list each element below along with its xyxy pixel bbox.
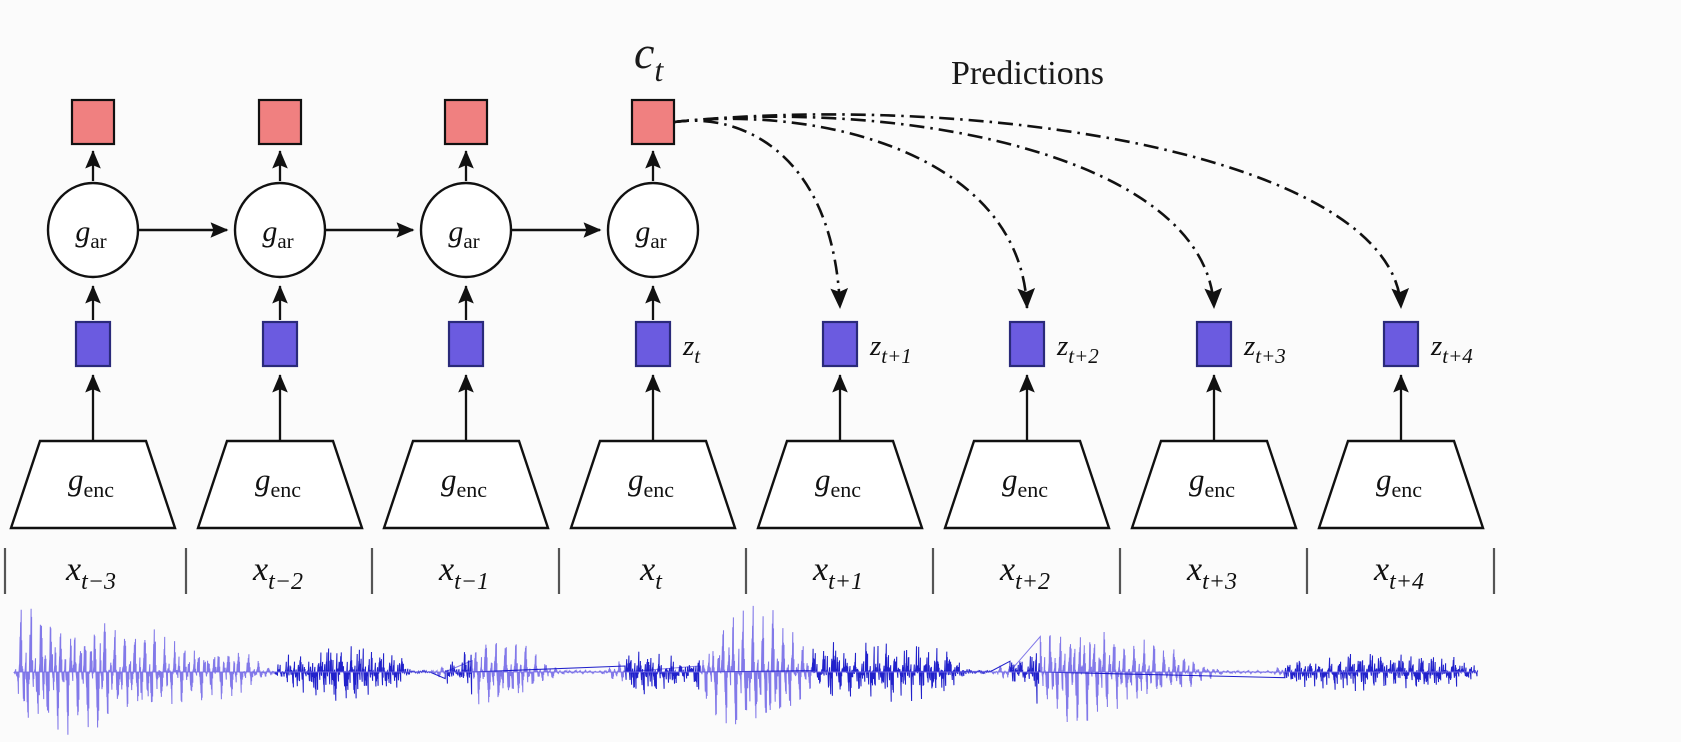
- input-label-1: xt−2: [252, 551, 303, 595]
- input-label-4: xt+1: [812, 551, 863, 595]
- context-vector-box-3[interactable]: [632, 100, 674, 144]
- latent-z-label-3: zt: [682, 330, 701, 368]
- latent-z-label-7: zt+4: [1430, 330, 1473, 368]
- latent-z-box-3[interactable]: [636, 322, 670, 366]
- context-vector-box-0[interactable]: [72, 100, 114, 144]
- diagram-geometry-layer: gargencxt−3gargencxt−2gargencxt−1garztge…: [5, 100, 1494, 735]
- input-label-5: xt+2: [999, 551, 1050, 595]
- latent-z-box-0[interactable]: [76, 322, 110, 366]
- waveform-dark-band: [275, 642, 1477, 704]
- prediction-curve-4: [674, 114, 1401, 308]
- latent-z-label-5: zt+2: [1056, 330, 1099, 368]
- latent-z-box-4[interactable]: [823, 322, 857, 366]
- prediction-curve-2: [674, 119, 1027, 308]
- latent-z-label-4: zt+1: [869, 330, 912, 368]
- cpc-architecture-diagram: gargencxt−3gargencxt−2gargencxt−1garztge…: [0, 0, 1681, 742]
- prediction-curve-3: [674, 117, 1214, 308]
- context-vector-box-2[interactable]: [445, 100, 487, 144]
- ct-subscript: t: [654, 52, 664, 88]
- context-vector-label: ct: [634, 27, 664, 88]
- input-label-6: xt+3: [1186, 551, 1237, 595]
- latent-z-box-7[interactable]: [1384, 322, 1418, 366]
- input-label-7: xt+4: [1373, 551, 1424, 595]
- input-label-0: xt−3: [65, 551, 116, 595]
- context-vector-box-1[interactable]: [259, 100, 301, 144]
- latent-z-box-6[interactable]: [1197, 322, 1231, 366]
- latent-z-label-6: zt+3: [1243, 330, 1286, 368]
- latent-z-box-5[interactable]: [1010, 322, 1044, 366]
- ct-base: c: [634, 27, 654, 78]
- prediction-curve-1: [674, 121, 840, 308]
- input-label-2: xt−1: [438, 551, 489, 595]
- latent-z-box-2[interactable]: [449, 322, 483, 366]
- input-label-3: xt: [639, 551, 663, 595]
- figure-canvas: gargencxt−3gargencxt−2gargencxt−1garztge…: [0, 0, 1681, 742]
- latent-z-box-1[interactable]: [263, 322, 297, 366]
- predictions-label: Predictions: [951, 55, 1104, 92]
